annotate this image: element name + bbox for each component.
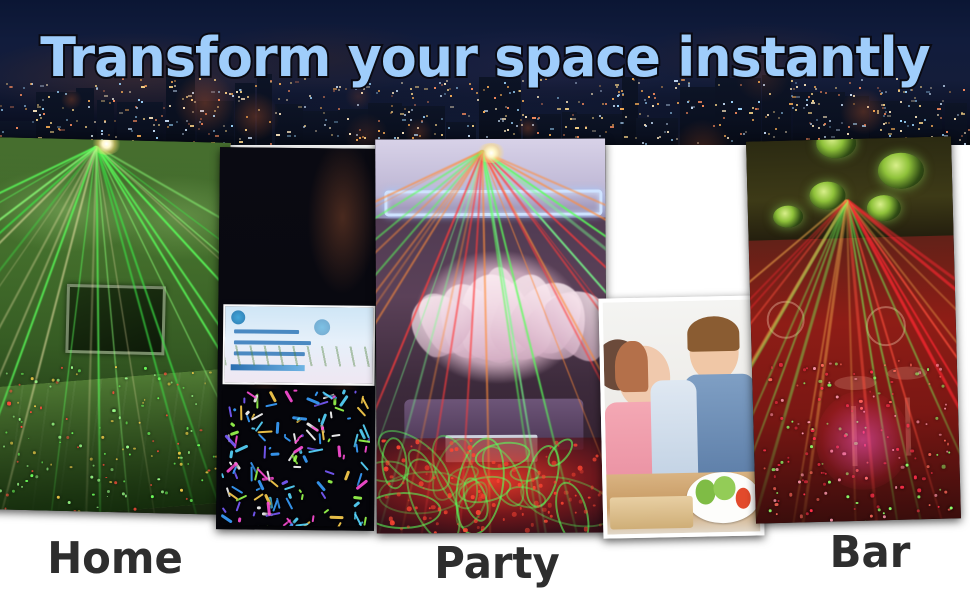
window-light: [808, 112, 812, 114]
window-light: [806, 99, 808, 101]
window-light: [378, 90, 380, 92]
window-light: [33, 110, 37, 112]
lotus-mural: [408, 237, 588, 403]
laser-dot: [931, 519, 934, 522]
window-light: [149, 117, 153, 119]
window-light: [502, 118, 506, 120]
laser-dot: [593, 457, 597, 461]
window-light: [239, 141, 243, 143]
glow-stick: [363, 517, 367, 527]
window-light: [101, 130, 103, 132]
window-light: [278, 98, 280, 100]
laser-dot: [467, 451, 470, 454]
street-glow: [840, 88, 887, 135]
window-light: [818, 103, 820, 105]
laser-dot: [447, 493, 452, 498]
window-light: [687, 101, 689, 103]
window-light: [538, 117, 540, 119]
lettuce: [695, 479, 715, 505]
laser-dot: [449, 441, 453, 445]
glow-stick: [258, 433, 266, 441]
window-light: [288, 90, 290, 92]
window-light: [392, 92, 394, 94]
window-light: [657, 137, 659, 139]
window-light: [323, 96, 325, 98]
window-light: [722, 110, 726, 112]
laser-dot: [522, 513, 524, 515]
window-light: [659, 136, 661, 138]
window-light: [477, 99, 479, 101]
laser-dot: [432, 476, 435, 479]
glow-stick: [265, 403, 278, 407]
window-light: [963, 89, 965, 91]
window-light: [161, 115, 163, 117]
laser-dot: [525, 528, 529, 532]
window-light: [940, 117, 942, 119]
window-light: [329, 127, 331, 129]
laser-dot: [450, 449, 454, 453]
window-light: [36, 119, 38, 121]
window-light: [578, 101, 580, 103]
laser-dot: [548, 511, 550, 513]
photo-panel-party: [375, 139, 607, 534]
laser-dot: [469, 439, 472, 442]
window-light: [57, 91, 59, 93]
page-title: Transform your space instantly: [15, 28, 956, 88]
karaoke-logo-icon: [231, 310, 245, 324]
laser-dot: [431, 505, 435, 509]
laser-dot: [419, 481, 424, 486]
laser-dot: [451, 477, 453, 479]
window-light: [957, 114, 959, 116]
window-light: [303, 126, 305, 128]
window-light: [404, 114, 406, 116]
window-light: [70, 124, 72, 126]
window-light: [315, 130, 317, 132]
photo-panel-bar-image: [746, 136, 961, 523]
laser-dot: [433, 532, 437, 534]
karaoke-watermark-icon: [314, 319, 330, 335]
window-light: [495, 108, 497, 110]
window-light: [591, 93, 593, 95]
window-light: [125, 109, 129, 111]
window-light: [610, 126, 614, 128]
window-light: [605, 103, 607, 105]
window-light: [101, 133, 103, 135]
window-light: [911, 89, 913, 91]
photo-panel-karaoke: [216, 147, 378, 531]
window-light: [914, 97, 916, 99]
glow-stick: [258, 431, 273, 434]
window-light: [121, 91, 123, 93]
window-light: [829, 120, 831, 122]
window-light: [879, 90, 881, 92]
window-light: [240, 91, 242, 93]
glow-stick: [334, 407, 344, 412]
laser-dot: [390, 521, 394, 525]
window-light: [644, 124, 646, 126]
window-light: [333, 90, 335, 92]
window-light: [612, 124, 614, 126]
caption-bar: Bar: [794, 529, 946, 577]
window-light: [811, 102, 815, 104]
window-light: [286, 99, 288, 101]
room-floor: [0, 367, 231, 515]
window-light: [467, 125, 469, 127]
window-light: [816, 119, 818, 121]
laser-dot: [425, 472, 428, 475]
window-light: [585, 127, 587, 129]
window-light: [647, 115, 649, 117]
window-light: [519, 90, 521, 92]
laser-dot: [408, 533, 413, 534]
glow-stick: [222, 507, 227, 513]
window-light: [468, 135, 470, 137]
window-light: [2, 131, 4, 133]
glow-stick: [353, 496, 362, 500]
karaoke-screen: [222, 304, 375, 386]
window-light: [620, 108, 622, 110]
window-light: [141, 101, 143, 103]
glow-stick: [320, 426, 323, 430]
window-light: [613, 105, 615, 107]
window-light: [0, 105, 2, 107]
window-light: [566, 101, 568, 103]
laser-dot: [390, 475, 394, 479]
window-light: [652, 105, 654, 107]
window-light: [572, 114, 574, 116]
window-light: [654, 97, 656, 99]
glow-stick: [288, 493, 293, 499]
glow-stick: [302, 455, 308, 463]
glow-stick: [245, 410, 250, 415]
window-light: [167, 126, 169, 128]
window-light: [541, 103, 543, 105]
window-light: [91, 135, 93, 137]
laser-dot: [469, 460, 474, 465]
window-light: [287, 135, 291, 137]
window-light: [565, 108, 569, 110]
laser-lit-floor: [376, 438, 606, 534]
window-light: [912, 124, 914, 126]
window-light: [24, 105, 26, 107]
window-light: [104, 121, 106, 123]
window-light: [215, 135, 219, 137]
glow-stick: [253, 494, 264, 502]
window-light: [396, 90, 398, 92]
window-light: [743, 133, 745, 135]
window-light: [448, 127, 450, 129]
karaoke-lyric-line: [234, 329, 299, 334]
laser-dot: [478, 483, 481, 486]
girl-hair: [614, 341, 649, 393]
window-light: [651, 122, 653, 124]
window-light: [505, 115, 507, 117]
window-light: [169, 105, 171, 107]
window-light: [602, 103, 604, 105]
laser-dot: [569, 498, 572, 501]
window-light: [143, 118, 145, 120]
window-light: [270, 143, 272, 145]
glow-stick: [230, 422, 235, 427]
window-light: [904, 121, 906, 123]
glow-stick: [264, 445, 267, 459]
window-light: [937, 114, 939, 116]
glow-stick: [332, 434, 341, 438]
window-light: [500, 118, 502, 120]
glow-stick: [257, 506, 261, 509]
window-light: [617, 95, 619, 97]
window-light: [582, 103, 584, 105]
laser-dot: [512, 512, 517, 517]
window-light: [961, 113, 965, 115]
glow-stick: [228, 406, 232, 417]
window-light: [908, 105, 910, 107]
window-light: [617, 105, 619, 107]
window-light: [109, 102, 111, 104]
window-light: [825, 92, 827, 94]
window-light: [639, 113, 641, 115]
window-light: [158, 124, 160, 126]
window-light: [931, 125, 933, 127]
glow-stick: [294, 466, 303, 468]
glow-stick: [359, 439, 371, 443]
wall-tv: [65, 284, 165, 356]
glow-stick: [301, 494, 304, 500]
glow-stick: [357, 407, 366, 417]
window-light: [468, 115, 470, 117]
laser-dot: [415, 439, 420, 444]
window-light: [838, 94, 840, 96]
window-light: [494, 97, 496, 99]
window-light: [511, 122, 513, 124]
window-light: [298, 106, 302, 108]
glow-stick: [330, 411, 333, 419]
window-light: [402, 119, 406, 121]
glow-stick: [268, 446, 272, 450]
window-light: [338, 89, 340, 91]
laser-dot: [597, 494, 600, 497]
window-light: [46, 126, 50, 128]
window-light: [641, 90, 643, 92]
window-light: [946, 131, 948, 133]
window-light: [929, 93, 931, 95]
window-light: [565, 126, 567, 128]
laser-dot: [468, 445, 472, 449]
window-light: [522, 114, 524, 116]
laser-dot: [400, 527, 403, 530]
window-light: [686, 112, 688, 114]
window-light: [20, 94, 22, 96]
window-light: [792, 96, 796, 98]
glow-stick: [328, 438, 332, 443]
window-light: [809, 122, 811, 124]
window-light: [115, 136, 117, 138]
window-light: [723, 117, 725, 119]
window-light: [752, 107, 754, 109]
window-light: [900, 130, 902, 132]
window-light: [644, 99, 646, 101]
window-light: [811, 93, 813, 95]
window-light: [887, 115, 891, 117]
window-light: [900, 120, 902, 122]
window-light: [537, 96, 539, 98]
glow-stick: [238, 517, 242, 522]
window-light: [61, 129, 65, 131]
window-light: [337, 135, 339, 137]
window-light: [39, 114, 41, 116]
laser-dot: [496, 479, 499, 482]
window-light: [112, 98, 114, 100]
room-wall: [0, 137, 231, 396]
window-light: [472, 125, 474, 127]
laser-dot: [423, 516, 427, 520]
window-light: [818, 127, 820, 129]
window-light: [915, 116, 917, 118]
photo-panel-party-image: [375, 139, 607, 534]
glow-stick: [281, 480, 288, 485]
window-light: [498, 120, 500, 122]
laser-dot: [471, 495, 474, 498]
photo-panel-family-image: [603, 299, 761, 534]
window-light: [391, 105, 393, 107]
window-light: [745, 131, 747, 133]
window-light: [954, 118, 956, 120]
window-light: [50, 122, 52, 124]
photo-panel-home-image: [0, 137, 231, 515]
window-light: [829, 126, 831, 128]
window-light: [88, 100, 90, 102]
window-light: [731, 101, 733, 103]
window-light: [517, 109, 519, 111]
window-light: [735, 112, 737, 114]
window-light: [434, 133, 436, 135]
glow-stick: [323, 509, 329, 515]
window-light: [165, 120, 169, 122]
window-light: [42, 108, 44, 110]
glow-stick: [327, 479, 332, 483]
laser-dot: [383, 466, 388, 471]
window-light: [642, 142, 644, 144]
glow-stick: [360, 462, 369, 472]
window-light: [136, 107, 138, 109]
window-light: [621, 90, 623, 92]
window-light: [88, 106, 90, 108]
promo-banner: Transform your space instantly: [0, 0, 970, 600]
window-light: [926, 91, 930, 93]
window-light: [331, 134, 333, 136]
window-light: [440, 95, 442, 97]
window-light: [450, 106, 454, 108]
window-light: [624, 136, 628, 138]
window-light: [820, 91, 822, 93]
laser-dot: [584, 527, 588, 531]
window-light: [450, 95, 452, 97]
glow-stick: [314, 391, 318, 396]
glow-stick: [311, 515, 314, 522]
photo-panel-home: [0, 137, 231, 515]
photo-panel-family: [599, 295, 765, 538]
window-light: [411, 109, 413, 111]
window-light: [666, 123, 668, 125]
glow-stick: [337, 445, 341, 457]
glow-stick: [305, 429, 315, 441]
window-light: [113, 100, 115, 102]
window-light: [715, 104, 717, 106]
window-light: [677, 102, 679, 104]
window-light: [773, 111, 775, 113]
window-light: [918, 128, 920, 130]
window-light: [773, 136, 775, 138]
window-light: [666, 104, 670, 106]
window-light: [592, 130, 596, 132]
window-light: [599, 115, 601, 117]
glow-stick: [334, 522, 341, 527]
window-light: [961, 135, 963, 137]
window-light: [323, 112, 325, 114]
window-light: [338, 108, 340, 110]
window-light: [513, 91, 515, 93]
laser-dot: [531, 478, 534, 481]
window-light: [942, 100, 944, 102]
laser-dot: [397, 445, 401, 449]
window-light: [462, 113, 466, 115]
window-light: [6, 83, 8, 85]
window-light: [768, 133, 770, 135]
laser-dot: [502, 518, 505, 521]
glow-stick: [221, 473, 224, 478]
glow-stick: [250, 466, 253, 481]
window-light: [426, 115, 428, 117]
window-light: [513, 133, 515, 135]
window-light: [287, 131, 291, 133]
glow-stick: [356, 443, 359, 452]
window-light: [509, 92, 511, 94]
window-light: [900, 101, 902, 103]
glow-stick: [318, 418, 320, 422]
window-light: [889, 111, 891, 113]
window-light: [557, 97, 559, 99]
window-light: [823, 116, 827, 118]
window-light: [522, 100, 524, 102]
window-light: [310, 97, 312, 99]
window-light: [66, 119, 68, 121]
glow-stick: [271, 453, 280, 456]
window-light: [885, 91, 887, 93]
glow-stick: [236, 502, 241, 512]
ceiling-light-frame: [385, 190, 603, 217]
window-light: [764, 132, 766, 134]
window-light: [572, 118, 576, 120]
glow-stick: [320, 413, 327, 425]
window-light: [752, 119, 754, 121]
glow-stick: [330, 515, 344, 518]
window-light: [621, 122, 623, 124]
window-light: [831, 136, 835, 138]
glow-stick: [244, 397, 246, 403]
caption-home: Home: [34, 535, 196, 583]
window-light: [808, 96, 810, 98]
window-light: [898, 90, 900, 92]
window-light: [792, 107, 794, 109]
glow-stick: [284, 485, 295, 490]
window-light: [404, 108, 406, 110]
glow-stick: [221, 514, 233, 524]
glow-stick: [240, 405, 243, 420]
window-light: [749, 112, 753, 114]
laser-dot: [531, 523, 535, 527]
window-light: [276, 134, 280, 136]
